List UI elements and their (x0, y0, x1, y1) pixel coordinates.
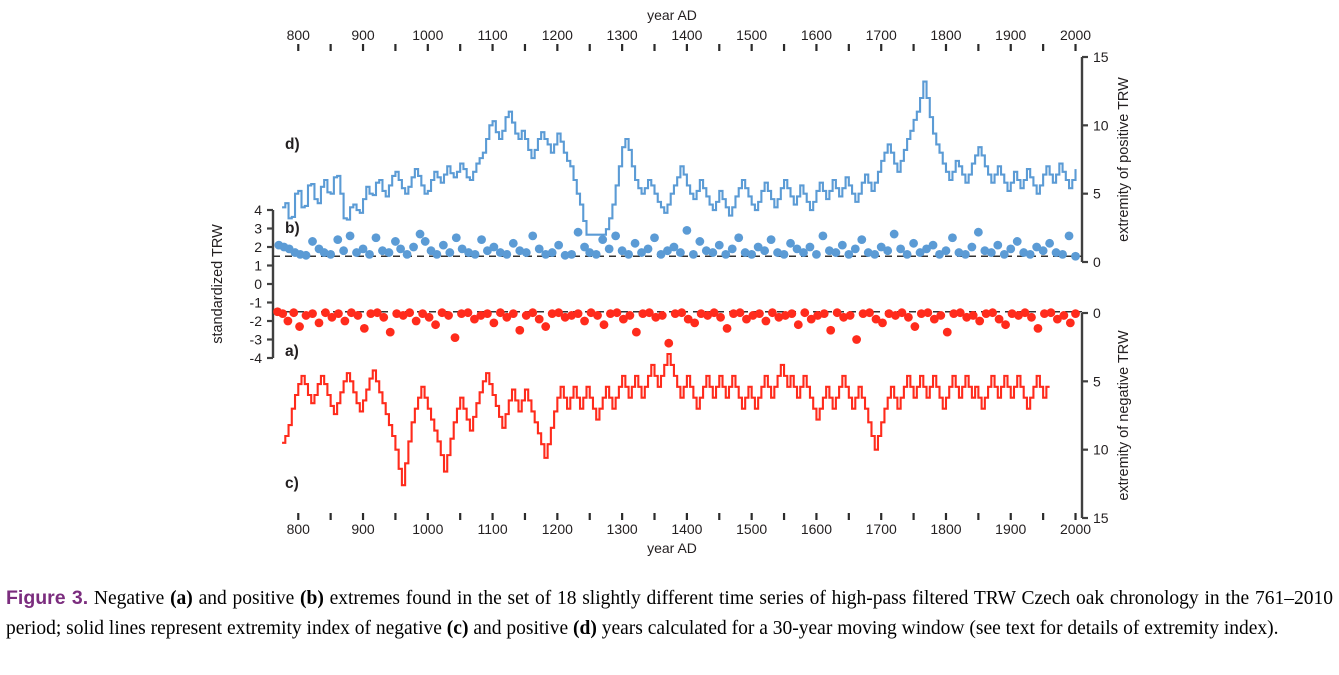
positive-extreme-point (890, 230, 899, 239)
positive-extreme-point (409, 243, 418, 252)
positive-extreme-point (372, 233, 381, 242)
negative-extreme-point (800, 308, 809, 317)
panel-label-a: a) (285, 343, 299, 360)
right-bottom-axis-tick-label: 15 (1093, 510, 1109, 526)
negative-extreme-point (820, 309, 829, 318)
panel-label-c: c) (285, 475, 299, 492)
right-top-axis-tick-label: 0 (1093, 254, 1101, 270)
positive-extreme-point (767, 235, 776, 244)
positive-extreme-point (548, 248, 557, 257)
negative-extreme-point (755, 309, 764, 318)
positive-extreme-point (308, 237, 317, 246)
bottom-axis-tick-label: 1600 (801, 521, 832, 537)
bottom-axis-tick-label: 1300 (607, 521, 638, 537)
negative-extreme-point (464, 308, 473, 317)
negative-extreme-point (278, 309, 287, 318)
figure-canvas: year AD800900100011001200130014001500160… (0, 0, 1339, 560)
top-axis-tick-label: 1800 (930, 27, 961, 43)
negative-extreme-point (483, 309, 492, 318)
positive-extreme-point (974, 228, 983, 237)
positive-extreme-point (728, 244, 737, 253)
negative-extreme-point (1027, 313, 1036, 322)
caption-part-2: and positive (193, 588, 300, 609)
top-axis-tick-label: 1900 (995, 27, 1026, 43)
negative-extreme-point (515, 326, 524, 335)
negative-extreme-point (541, 322, 550, 331)
negative-extreme-point (360, 324, 369, 333)
negative-extreme-point (1066, 318, 1075, 327)
positive-extreme-point (439, 241, 448, 250)
positive-extreme-point (831, 248, 840, 257)
negative-extreme-point (988, 308, 997, 317)
positive-extreme-point (432, 250, 441, 259)
right-bottom-axis-tick-label: 10 (1093, 442, 1109, 458)
bottom-axis-tick-label: 1800 (930, 521, 961, 537)
negative-extreme-point (489, 318, 498, 327)
positive-extreme-point (929, 241, 938, 250)
negative-extreme-point (451, 333, 460, 342)
positive-extreme-point (1039, 246, 1048, 255)
positive-extreme-point (676, 248, 685, 257)
negative-extreme-point (923, 308, 932, 317)
positive-extreme-point (1058, 250, 1067, 259)
bottom-axis-tick-label: 1000 (412, 521, 443, 537)
top-axis-tick-label: 1400 (671, 27, 702, 43)
positive-extreme-point (598, 235, 607, 244)
negative-extreme-point (904, 313, 913, 322)
top-axis-tick-label: 1600 (801, 27, 832, 43)
left-axis-tick-label: 4 (254, 202, 262, 218)
positive-extreme-point (747, 250, 756, 259)
positive-extreme-point (611, 232, 620, 241)
bottom-axis-tick-label: 1500 (736, 521, 767, 537)
negative-extreme-point (787, 309, 796, 318)
caption-bold-b: (b) (300, 588, 324, 609)
positive-extreme-point (689, 250, 698, 259)
bottom-axis-tick-label: 1200 (542, 521, 573, 537)
positive-extreme-point (948, 233, 957, 242)
bottom-axis-tick-label: 2000 (1060, 521, 1091, 537)
negative-extreme-point (677, 308, 686, 317)
positive-extreme-point (1065, 232, 1074, 241)
positive-extreme-point (734, 233, 743, 242)
negative-extreme-point (826, 326, 835, 335)
positive-extreme-point (605, 244, 614, 253)
positive-extreme-point (445, 248, 454, 257)
top-axis-tick-label: 1500 (736, 27, 767, 43)
negative-extreme-point (936, 311, 945, 320)
bottom-axis-tick-label: 1100 (478, 521, 508, 537)
positive-extreme-point (528, 232, 537, 241)
positive-extreme-point (961, 250, 970, 259)
positive-extreme-point (851, 244, 860, 253)
bottom-axis-tick-label: 900 (351, 521, 375, 537)
negative-extreme-point (625, 311, 634, 320)
negative-extreme-point (1047, 308, 1056, 317)
caption-part-5: years calculated for a 30-year moving wi… (597, 618, 1279, 639)
positive-extreme-point (509, 239, 518, 248)
positive-extreme-point (502, 250, 511, 259)
negative-extreme-point (295, 322, 304, 331)
panel-label-d: d) (285, 136, 300, 153)
positive-extreme-point (695, 237, 704, 246)
positive-extreme-point (870, 250, 879, 259)
negative-extreme-point (283, 317, 292, 326)
top-axis-tick-label: 1100 (478, 27, 508, 43)
caption-bold-c: (c) (447, 618, 469, 639)
left-axis-tick-label: 0 (254, 276, 262, 292)
positive-extreme-point (391, 237, 400, 246)
negative-extreme-point (878, 318, 887, 327)
negative-extreme-point (334, 309, 343, 318)
negative-extreme-point (353, 311, 362, 320)
positive-extreme-point (302, 251, 311, 260)
top-axis-title: year AD (647, 7, 697, 23)
positive-extreme-point (819, 232, 828, 241)
positive-extreme-point (567, 250, 576, 259)
positive-extreme-point (715, 241, 724, 250)
caption-part-4: and positive (468, 618, 573, 639)
negative-extreme-point (762, 317, 771, 326)
negative-extreme-point (535, 315, 544, 324)
positive-extreme-point (522, 248, 531, 257)
top-axis-tick-label: 1300 (607, 27, 638, 43)
negative-extreme-point (386, 328, 395, 337)
positive-extreme-point (1026, 250, 1035, 259)
positive-extreme-point (416, 230, 425, 239)
negative-extreme-point (846, 311, 855, 320)
negative-extreme-point (1034, 324, 1043, 333)
left-axis-tick-label: -4 (250, 350, 263, 366)
negative-extreme-point (580, 317, 589, 326)
right-top-axis-tick-label: 15 (1093, 49, 1109, 65)
negative-extreme-point (943, 328, 952, 337)
positive-extreme-point (452, 233, 461, 242)
negative-extreme-point (308, 309, 317, 318)
positive-extreme-point (838, 241, 847, 250)
negative-extreme-point (736, 308, 745, 317)
negative-extreme-point (412, 317, 421, 326)
negative-extreme-point (690, 318, 699, 327)
left-axis-title: standardized TRW (210, 224, 226, 344)
positive-extreme-point (631, 239, 640, 248)
top-axis-tick-label: 1000 (412, 27, 443, 43)
positive-extremity-line (282, 82, 1075, 235)
right-bottom-axis-tick-label: 5 (1093, 373, 1101, 389)
negative-extreme-point (379, 313, 388, 322)
positive-extreme-point (592, 250, 601, 259)
positive-extreme-point (708, 248, 717, 257)
negative-extreme-point (509, 309, 518, 318)
left-axis-tick-label: 3 (254, 221, 262, 237)
bottom-axis-tick-label: 800 (287, 521, 311, 537)
negative-extreme-point (593, 311, 602, 320)
left-axis-tick-label: -3 (250, 332, 263, 348)
negative-extreme-point (794, 320, 803, 329)
positive-extreme-point (987, 248, 996, 257)
negative-extreme-point (1059, 311, 1068, 320)
positive-extreme-point (650, 233, 659, 242)
top-axis-tick-label: 1700 (866, 27, 897, 43)
positive-extreme-point (574, 228, 583, 237)
negative-extreme-point (528, 308, 537, 317)
negative-extreme-point (723, 324, 732, 333)
positive-extreme-point (333, 235, 342, 244)
positive-extreme-point (346, 232, 355, 241)
positive-extreme-point (942, 246, 951, 255)
negative-extreme-point (852, 335, 861, 344)
caption-figure-label: Figure 3. (6, 587, 88, 609)
positive-extreme-point (471, 250, 480, 259)
negative-extreme-point (431, 320, 440, 329)
positive-extreme-point (682, 226, 691, 235)
negative-extreme-point (658, 311, 667, 320)
negative-extreme-point (1001, 320, 1010, 329)
right-top-axis-tick-label: 5 (1093, 186, 1101, 202)
caption-bold-a: (a) (170, 588, 193, 609)
positive-extreme-point (339, 246, 348, 255)
positive-extreme-point (385, 248, 394, 257)
positive-extreme-point (967, 243, 976, 252)
negative-extreme-point (600, 320, 609, 329)
positive-extreme-point (812, 250, 821, 259)
positive-extreme-point (1045, 239, 1054, 248)
positive-extreme-point (1013, 237, 1022, 246)
bottom-axis-tick-label: 1400 (671, 521, 702, 537)
negative-extremity-line (282, 354, 1050, 485)
positive-extreme-point (909, 239, 918, 248)
positive-extreme-point (780, 250, 789, 259)
positive-extreme-point (1071, 252, 1080, 261)
left-axis-tick-label: -2 (250, 313, 263, 329)
negative-extreme-point (613, 308, 622, 317)
top-axis-tick-label: 900 (351, 27, 375, 43)
negative-extreme-point (405, 308, 414, 317)
right-top-axis-tick-label: 10 (1093, 117, 1109, 133)
bottom-axis-tick-label: 1900 (995, 521, 1026, 537)
right-top-axis-title: extremity of positive TRW (1116, 77, 1132, 242)
positive-extreme-point (477, 235, 486, 244)
positive-extreme-point (403, 250, 412, 259)
figure-caption: Figure 3. Negative (a) and positive (b) … (0, 583, 1339, 644)
positive-extreme-point (903, 250, 912, 259)
negative-extreme-point (289, 308, 298, 317)
positive-extreme-point (326, 250, 335, 259)
positive-extreme-point (760, 246, 769, 255)
figure-3: year AD800900100011001200130014001500160… (0, 0, 1339, 560)
bottom-axis-tick-label: 1700 (866, 521, 897, 537)
negative-extreme-point (865, 308, 874, 317)
positive-extreme-point (554, 241, 563, 250)
left-axis-tick-label: 2 (254, 239, 262, 255)
positive-extreme-point (857, 235, 866, 244)
negative-extreme-point (910, 322, 919, 331)
negative-extreme-point (664, 339, 673, 348)
negative-extreme-point (975, 317, 984, 326)
negative-extreme-point (340, 317, 349, 326)
positive-extreme-point (624, 250, 633, 259)
top-axis-tick-label: 2000 (1060, 27, 1091, 43)
top-axis-tick-label: 800 (287, 27, 311, 43)
positive-extreme-point (806, 243, 815, 252)
caption-bold-d: (d) (573, 618, 597, 639)
positive-extreme-point (883, 246, 892, 255)
caption-part-1: Negative (88, 588, 170, 609)
negative-extreme-point (315, 318, 324, 327)
positive-extreme-point (1006, 244, 1015, 253)
right-bottom-axis-tick-label: 0 (1093, 305, 1101, 321)
left-axis-tick-label: -1 (250, 295, 263, 311)
positive-extreme-point (421, 237, 430, 246)
positive-extreme-point (993, 241, 1002, 250)
bottom-axis-title: year AD (647, 540, 697, 556)
positive-extreme-point (365, 250, 374, 259)
negative-extreme-point (716, 313, 725, 322)
right-bottom-axis-title: extremity of negative TRW (1116, 330, 1132, 501)
negative-extreme-point (632, 328, 641, 337)
positive-extreme-point (644, 244, 653, 253)
negative-extreme-point (574, 309, 583, 318)
negative-extreme-point (1071, 309, 1080, 318)
top-axis-tick-label: 1200 (542, 27, 573, 43)
left-axis-tick-label: 1 (254, 258, 262, 274)
panel-label-b: b) (285, 220, 300, 237)
negative-extreme-point (425, 313, 434, 322)
negative-extreme-point (444, 311, 453, 320)
